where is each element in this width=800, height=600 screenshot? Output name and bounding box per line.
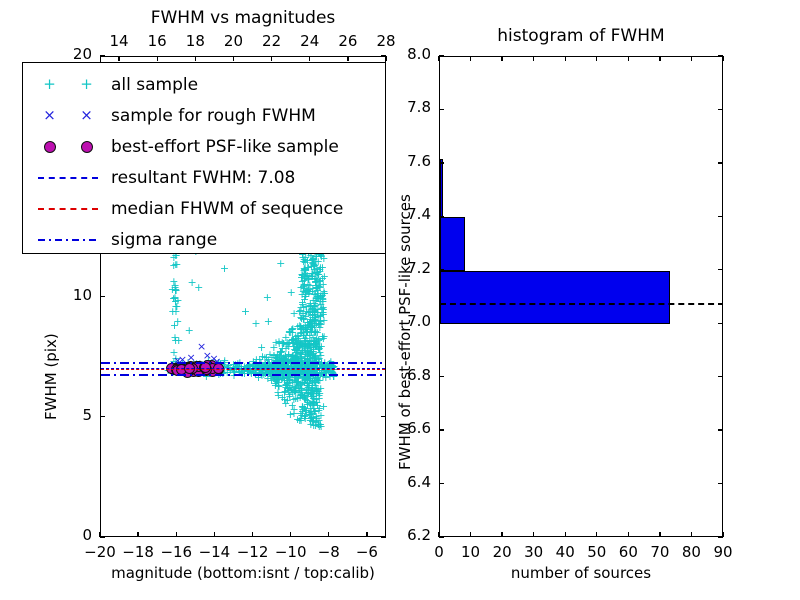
right-y-tick-right xyxy=(718,376,723,377)
right-y-tick-label: 7.2 xyxy=(377,259,431,277)
histogram-bar xyxy=(440,217,465,270)
legend-label: all sample xyxy=(105,75,198,95)
scatter-point-all-sample: + xyxy=(256,342,267,354)
left-y-tick-right xyxy=(381,416,386,417)
legend-key-dot xyxy=(31,141,105,153)
right-y-tick-right xyxy=(718,55,723,56)
left-x-axis-label: magnitude (bottom:isnt / top:calib) xyxy=(80,564,406,582)
left-x-tick xyxy=(252,532,253,537)
right-y-tick xyxy=(439,429,444,430)
scatter-point-all-sample: + xyxy=(270,337,281,349)
right-y-tick xyxy=(439,536,444,537)
legend-item: median FHWM of sequence xyxy=(31,193,375,224)
left-x-tick xyxy=(137,532,138,537)
scatter-point-all-sample: + xyxy=(316,341,327,353)
scatter-point-all-sample: + xyxy=(303,286,314,298)
right-x-top-tick xyxy=(628,56,629,61)
left-x-tick xyxy=(176,532,177,537)
legend-blue-dashed-line xyxy=(38,177,98,179)
histogram-resultant-fwhm-line xyxy=(440,303,722,305)
right-plot-area xyxy=(440,57,722,536)
right-x-top-tick xyxy=(596,56,597,61)
scatter-point-all-sample: + xyxy=(308,261,319,273)
right-x-tick xyxy=(596,532,597,537)
median-fwhm-line xyxy=(101,369,385,370)
left-x-tick xyxy=(366,532,367,537)
left-y-tick xyxy=(100,55,105,56)
legend-item: best-effort PSF-like sample xyxy=(31,131,375,162)
right-y-tick-right xyxy=(718,483,723,484)
scatter-point-all-sample: + xyxy=(250,318,261,330)
legend-plus-marker: + xyxy=(80,77,93,92)
scatter-point-all-sample: + xyxy=(289,308,300,320)
right-y-tick-right xyxy=(718,109,723,110)
left-y-tick-label: 20 xyxy=(42,45,92,63)
scatter-point-all-sample: + xyxy=(318,401,329,413)
right-y-tick xyxy=(439,216,444,217)
left-x-top-tick xyxy=(347,56,348,61)
scatter-point-all-sample: + xyxy=(308,412,319,424)
scatter-point-all-sample: + xyxy=(172,316,183,328)
right-x-top-tick xyxy=(438,56,439,61)
right-y-tick-right xyxy=(718,269,723,270)
left-y-tick-label: 10 xyxy=(42,286,92,304)
right-x-top-tick xyxy=(565,56,566,61)
left-y-tick-label: 0 xyxy=(42,526,92,544)
right-y-tick-right xyxy=(718,429,723,430)
right-plot-title: histogram of FWHM xyxy=(439,26,723,46)
right-x-top-tick xyxy=(501,56,502,61)
legend-cross-marker: × xyxy=(43,108,56,123)
right-y-tick-label: 6.8 xyxy=(377,366,431,384)
scatter-point-all-sample: + xyxy=(170,284,181,296)
left-x-tick xyxy=(328,532,329,537)
right-y-tick-label: 7.0 xyxy=(377,312,431,330)
legend-key-rdash xyxy=(31,208,105,210)
scatter-point-all-sample: + xyxy=(294,415,305,427)
right-y-tick xyxy=(439,323,444,324)
legend-key-bdashdot xyxy=(31,239,105,241)
left-x-top-tick xyxy=(118,56,119,61)
left-x-top-tick xyxy=(233,56,234,61)
right-x-tick xyxy=(501,532,502,537)
right-x-top-tick xyxy=(470,56,471,61)
legend-blue-dashdot-line xyxy=(38,239,98,241)
right-x-tick xyxy=(533,532,534,537)
right-x-top-tick xyxy=(533,56,534,61)
left-y-tick-label: 5 xyxy=(42,406,92,424)
scatter-point-all-sample: + xyxy=(263,316,274,328)
left-y-tick xyxy=(100,296,105,297)
scatter-point-all-sample: + xyxy=(303,320,314,332)
scatter-point-all-sample: + xyxy=(219,263,230,275)
right-x-top-tick xyxy=(722,56,723,61)
right-x-tick xyxy=(470,532,471,537)
legend-item: resultant FWHM: 7.08 xyxy=(31,162,375,193)
scatter-point-all-sample: + xyxy=(240,306,251,318)
scatter-point-all-sample: + xyxy=(193,282,204,294)
legend-item: ××sample for rough FWHM xyxy=(31,100,375,131)
sigma-range-line-upper xyxy=(101,362,385,364)
legend-label: best-effort PSF-like sample xyxy=(105,137,339,157)
left-x-tick-label: −6 xyxy=(339,543,395,561)
scatter-point-all-sample: + xyxy=(286,287,297,299)
legend-label: sample for rough FWHM xyxy=(105,106,316,126)
right-x-tick xyxy=(628,532,629,537)
right-y-tick-label: 6.6 xyxy=(377,419,431,437)
right-y-tick-label: 8.0 xyxy=(377,45,431,63)
legend-item: sigma range xyxy=(31,224,375,255)
left-x-tick xyxy=(290,532,291,537)
right-y-tick-right xyxy=(718,162,723,163)
scatter-point-all-sample: + xyxy=(302,354,313,366)
right-y-tick-label: 6.4 xyxy=(377,473,431,491)
left-y-tick xyxy=(100,536,105,537)
scatter-point-all-sample: + xyxy=(275,258,286,270)
legend: ++all sample××sample for rough FWHMbest-… xyxy=(22,62,386,254)
legend-red-dashed-line xyxy=(38,208,98,210)
left-x-top-tick xyxy=(157,56,158,61)
legend-dot-marker xyxy=(81,141,93,153)
legend-plus-marker: + xyxy=(43,77,56,92)
right-x-top-tick xyxy=(659,56,660,61)
legend-key-plus: ++ xyxy=(31,77,105,92)
left-y-tick xyxy=(100,416,105,417)
sigma-range-line-lower xyxy=(101,374,385,376)
scatter-point-all-sample: + xyxy=(170,301,181,313)
right-x-tick xyxy=(659,532,660,537)
left-x-tick xyxy=(214,532,215,537)
left-x-top-tick xyxy=(309,56,310,61)
right-y-tick xyxy=(439,483,444,484)
legend-key-bdash xyxy=(31,177,105,179)
left-x-top-tick xyxy=(195,56,196,61)
right-x-tick xyxy=(691,532,692,537)
right-x-tick-label: 90 xyxy=(695,543,751,561)
legend-dot-marker xyxy=(44,141,56,153)
legend-label: sigma range xyxy=(105,230,217,250)
scatter-point-all-sample: + xyxy=(297,339,308,351)
right-y-tick-right xyxy=(718,216,723,217)
right-y-tick xyxy=(439,269,444,270)
right-y-tick-right xyxy=(718,323,723,324)
right-y-tick-label: 6.2 xyxy=(377,526,431,544)
legend-label: median FHWM of sequence xyxy=(105,199,343,219)
right-y-tick xyxy=(439,109,444,110)
legend-key-cross: ×× xyxy=(31,108,105,123)
left-x-top-tick xyxy=(271,56,272,61)
legend-cross-marker: × xyxy=(80,108,93,123)
histogram-of-fwhm-axes xyxy=(439,56,723,537)
histogram-bar xyxy=(440,159,443,218)
figure-canvas: FWHM vs magnitudes +++++++++++++++++++++… xyxy=(0,0,800,600)
scatter-point-all-sample: + xyxy=(287,400,298,412)
legend-item: ++all sample xyxy=(31,69,375,100)
scatter-point-all-sample: + xyxy=(184,325,195,337)
scatter-point-all-sample: + xyxy=(314,375,325,387)
right-y-tick xyxy=(439,162,444,163)
right-x-axis-label: number of sources xyxy=(430,564,732,582)
right-y-tick xyxy=(439,55,444,56)
scatter-point-all-sample: + xyxy=(262,292,273,304)
histogram-bar xyxy=(440,271,670,324)
scatter-point-all-sample: + xyxy=(173,335,184,347)
right-x-tick xyxy=(565,532,566,537)
left-plot-title: FWHM vs magnitudes xyxy=(100,8,386,28)
right-y-tick xyxy=(439,376,444,377)
right-x-top-tick xyxy=(691,56,692,61)
left-y-tick-right xyxy=(381,296,386,297)
legend-label: resultant FWHM: 7.08 xyxy=(105,168,295,188)
right-y-tick-right xyxy=(718,536,723,537)
